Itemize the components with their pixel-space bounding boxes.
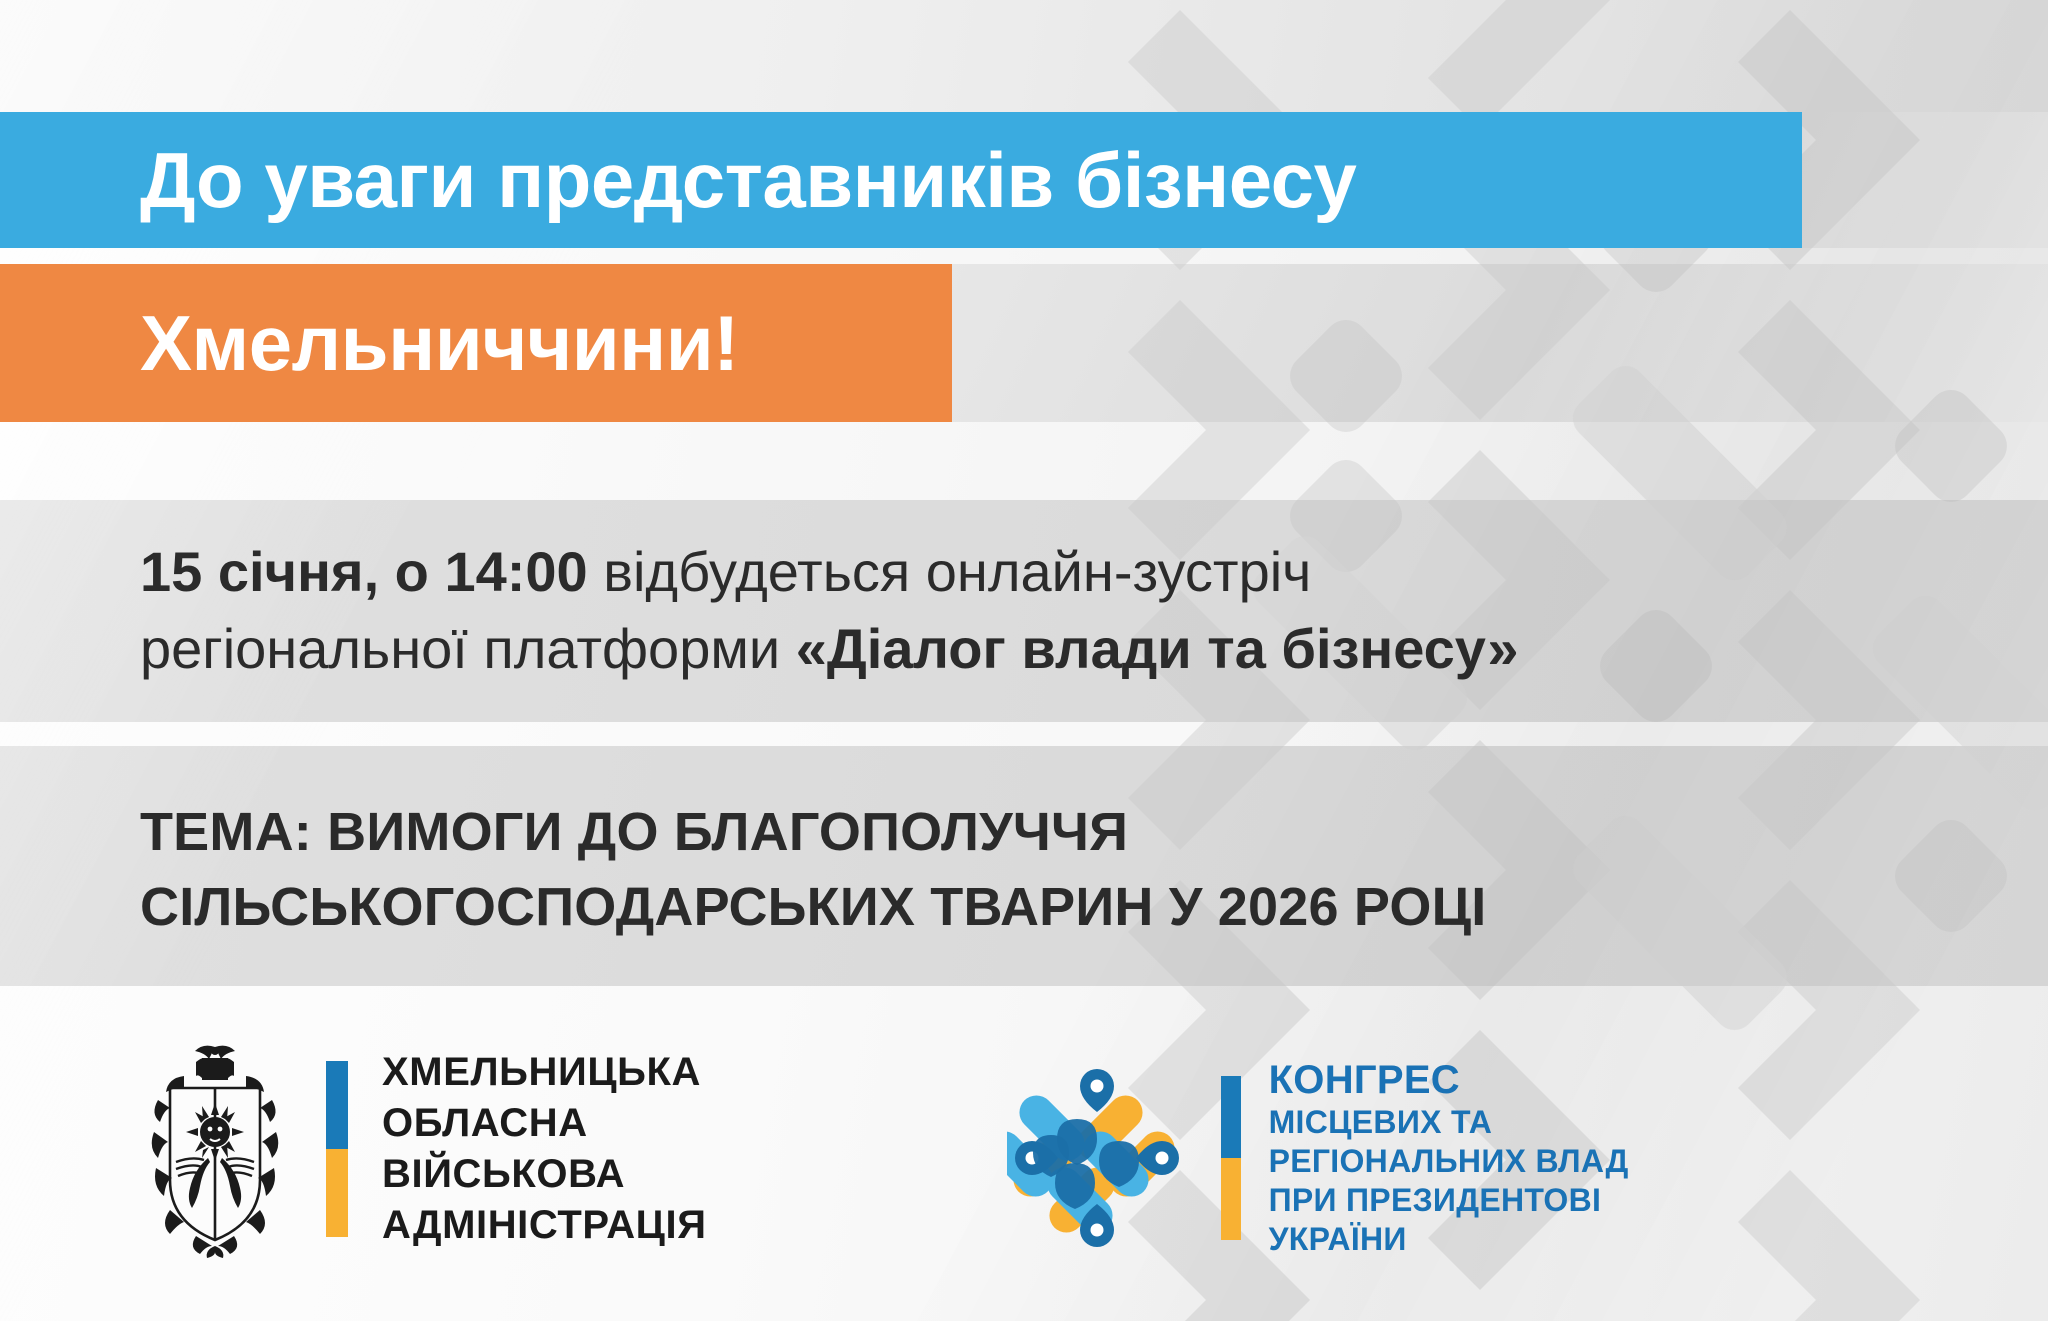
announcement-line-2-prefix: регіональної платформи xyxy=(140,617,796,680)
congress-ukraine-flag-bar xyxy=(1221,1076,1241,1240)
topic-block: ТЕМА: ВИМОГИ ДО БЛАГОПОЛУЧЧЯ СІЛЬСЬКОГОС… xyxy=(140,800,1900,940)
congress-text-line-2: МІСЦЕВИХ ТА xyxy=(1269,1103,1629,1142)
topic-line-1: ТЕМА: ВИМОГИ ДО БЛАГОПОЛУЧЧЯ xyxy=(140,800,1900,865)
topic-label: ТЕМА: xyxy=(140,802,312,862)
oda-text-line-3: ВІЙСЬКОВА xyxy=(382,1149,707,1200)
oda-text-line-1: ХМЕЛЬНИЦЬКА xyxy=(382,1047,707,1098)
announcement-block: 15 січня, о 14:00 відбудеться онлайн-зус… xyxy=(140,538,1900,682)
oda-logo: ХМЕЛЬНИЦЬКА ОБЛАСНА ВІЙСЬКОВА АДМІНІСТРА… xyxy=(140,1040,707,1258)
headline-primary-bar: До уваги представників бізнесу xyxy=(0,112,1802,248)
congress-people-cluster-icon xyxy=(1007,1063,1187,1253)
headline-line-2: Хмельниччини! xyxy=(140,304,739,382)
congress-logo-text: КОНГРЕС МІСЦЕВИХ ТА РЕГІОНАЛЬНИХ ВЛАД ПР… xyxy=(1269,1058,1629,1259)
headline-line-1: До уваги представників бізнесу xyxy=(140,141,1356,219)
background-band-gap-3 xyxy=(0,722,2048,746)
announcement-line-1: 15 січня, о 14:00 відбудеться онлайн-зус… xyxy=(140,538,1900,605)
announcement-platform-name: «Діалог влади та бізнесу» xyxy=(796,617,1519,680)
announcement-line-1-rest: відбудеться онлайн-зустріч xyxy=(588,540,1312,603)
congress-text-line-4: ПРИ ПРЕЗИДЕНТОВІ xyxy=(1269,1181,1629,1220)
background-band-top xyxy=(0,0,2048,112)
congress-text-line-5: УКРАЇНИ xyxy=(1269,1220,1629,1259)
oda-text-line-4: АДМІНІСТРАЦІЯ xyxy=(382,1200,707,1251)
background-band-gap-1 xyxy=(0,248,2048,264)
congress-logo: КОНГРЕС МІСЦЕВИХ ТА РЕГІОНАЛЬНИХ ВЛАД ПР… xyxy=(1007,1058,1629,1259)
headline-secondary-bar: Хмельниччини! xyxy=(0,264,952,422)
oda-logo-text: ХМЕЛЬНИЦЬКА ОБЛАСНА ВІЙСЬКОВА АДМІНІСТРА… xyxy=(382,1047,707,1252)
oda-ukraine-flag-bar xyxy=(326,1061,348,1237)
announcement-poster: До уваги представників бізнесу Хмельничч… xyxy=(0,0,2048,1321)
congress-text-line-3: РЕГІОНАЛЬНИХ ВЛАД xyxy=(1269,1142,1629,1181)
topic-line-1-rest: ВИМОГИ ДО БЛАГОПОЛУЧЧЯ xyxy=(312,802,1128,862)
announcement-line-2: регіональної платформи «Діалог влади та … xyxy=(140,615,1900,682)
topic-line-2: СІЛЬСЬКОГОСПОДАРСЬКИХ ТВАРИН У 2026 РОЦІ xyxy=(140,875,1900,940)
oda-text-line-2: ОБЛАСНА xyxy=(382,1098,707,1149)
footer-logos: ХМЕЛЬНИЦЬКА ОБЛАСНА ВІЙСЬКОВА АДМІНІСТРА… xyxy=(0,1040,2048,1321)
congress-text-line-1: КОНГРЕС xyxy=(1269,1058,1629,1103)
khmelnytskyi-oblast-coat-of-arms-icon xyxy=(140,1040,290,1258)
background-band-gap-2 xyxy=(0,422,2048,500)
announcement-datetime: 15 січня, о 14:00 xyxy=(140,540,588,603)
